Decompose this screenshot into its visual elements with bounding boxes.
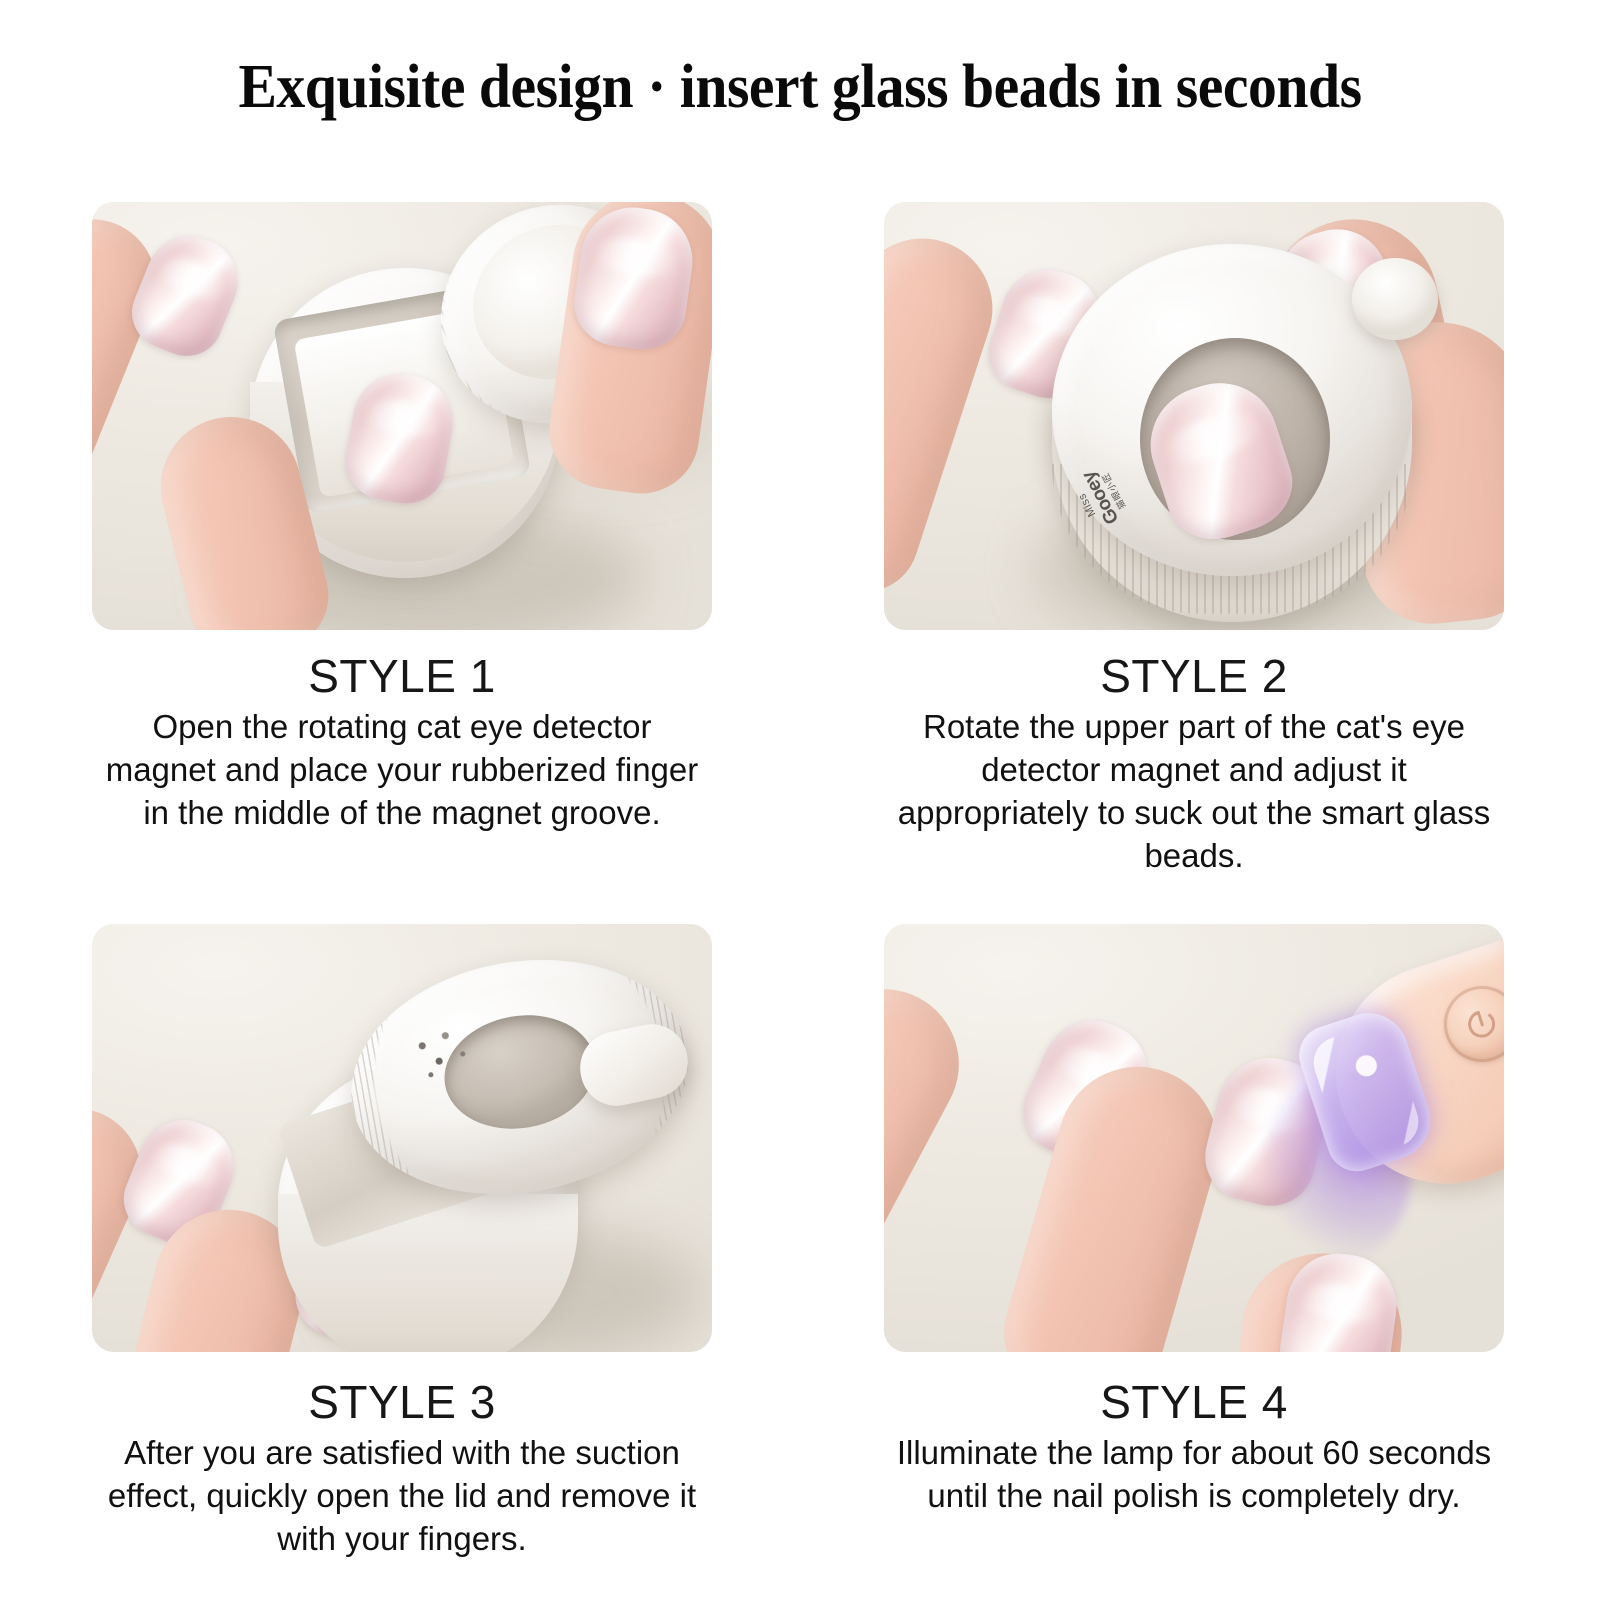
step-card-4: STYLE 4 Illuminate the lamp for about 60… <box>884 924 1504 1561</box>
step-caption-4: STYLE 4 Illuminate the lamp for about 60… <box>884 1352 1504 1518</box>
step-photo-2: Miss Gooey 猫眼小匠 <box>884 202 1504 630</box>
step-description-4: Illuminate the lamp for about 60 seconds… <box>884 1432 1504 1518</box>
step-label-4: STYLE 4 <box>884 1378 1504 1426</box>
step-label-2: STYLE 2 <box>884 652 1504 700</box>
step-card-1: STYLE 1 Open the rotating cat eye detect… <box>92 202 712 878</box>
lid-beads <box>405 1018 484 1089</box>
step-photo-3 <box>92 924 712 1352</box>
step-card-3: STYLE 3 After you are satisfied with the… <box>92 924 712 1561</box>
step-description-3: After you are satisfied with the suction… <box>92 1432 712 1561</box>
steps-grid: STYLE 1 Open the rotating cat eye detect… <box>92 202 1504 1561</box>
step-label-1: STYLE 1 <box>92 652 712 700</box>
step-caption-2: STYLE 2 Rotate the upper part of the cat… <box>884 630 1504 878</box>
detector-tab <box>1352 258 1438 340</box>
step-label-3: STYLE 3 <box>92 1378 712 1426</box>
page-title: Exquisite design · insert glass beads in… <box>56 52 1544 123</box>
step-photo-1 <box>92 202 712 630</box>
step-photo-4 <box>884 924 1504 1352</box>
step-card-2: Miss Gooey 猫眼小匠 STYLE 2 Rotate the upper… <box>884 202 1504 878</box>
power-icon <box>1457 999 1504 1049</box>
step-description-2: Rotate the upper part of the cat's eye d… <box>884 706 1504 878</box>
step-description-1: Open the rotating cat eye detector magne… <box>92 706 712 835</box>
step-caption-3: STYLE 3 After you are satisfied with the… <box>92 1352 712 1561</box>
step-caption-1: STYLE 1 Open the rotating cat eye detect… <box>92 630 712 835</box>
infographic-page: Exquisite design · insert glass beads in… <box>0 0 1600 1600</box>
